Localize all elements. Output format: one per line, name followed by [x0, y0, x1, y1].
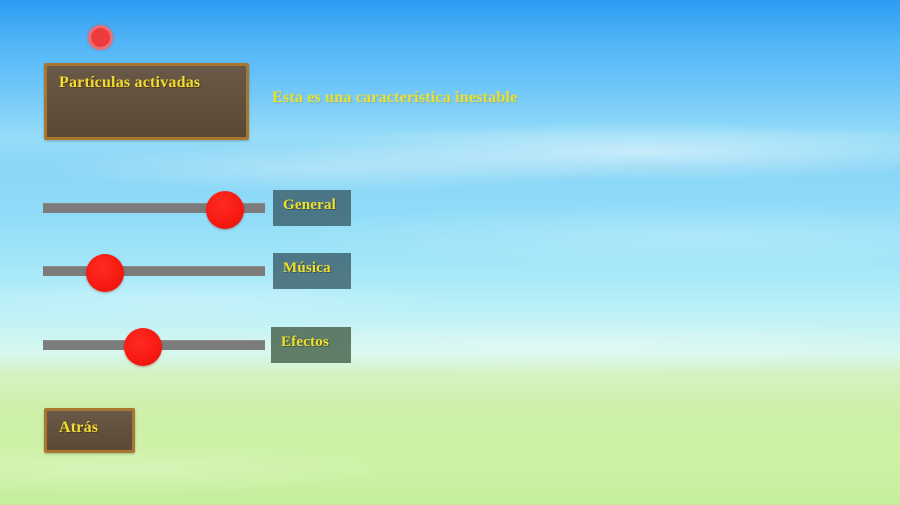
back-button-label: Atrás	[59, 419, 98, 437]
slider-knob-efectos[interactable]	[124, 328, 162, 366]
particles-activated-panel[interactable]: Partículas activadas	[44, 63, 249, 140]
back-button[interactable]: Atrás	[44, 408, 135, 453]
slider-label-general[interactable]: General	[273, 190, 351, 226]
slider-label-musica[interactable]: Música	[273, 253, 351, 289]
unstable-feature-hint: Esta es una característica inestable	[272, 89, 517, 107]
slider-row-general: General	[0, 186, 900, 230]
particle-toggle-dot-icon[interactable]	[88, 25, 113, 50]
slider-track-musica[interactable]	[43, 266, 265, 276]
particles-activated-label: Partículas activadas	[59, 74, 200, 92]
slider-knob-musica[interactable]	[86, 254, 124, 292]
slider-knob-general[interactable]	[206, 191, 244, 229]
slider-label-efectos[interactable]: Efectos	[271, 327, 351, 363]
slider-track-efectos[interactable]	[43, 340, 265, 350]
settings-screen: Partículas activadas Esta es una caracte…	[0, 0, 900, 505]
slider-row-musica: Música	[0, 249, 900, 293]
slider-row-efectos: Efectos	[0, 323, 900, 367]
slider-track-general[interactable]	[43, 203, 265, 213]
